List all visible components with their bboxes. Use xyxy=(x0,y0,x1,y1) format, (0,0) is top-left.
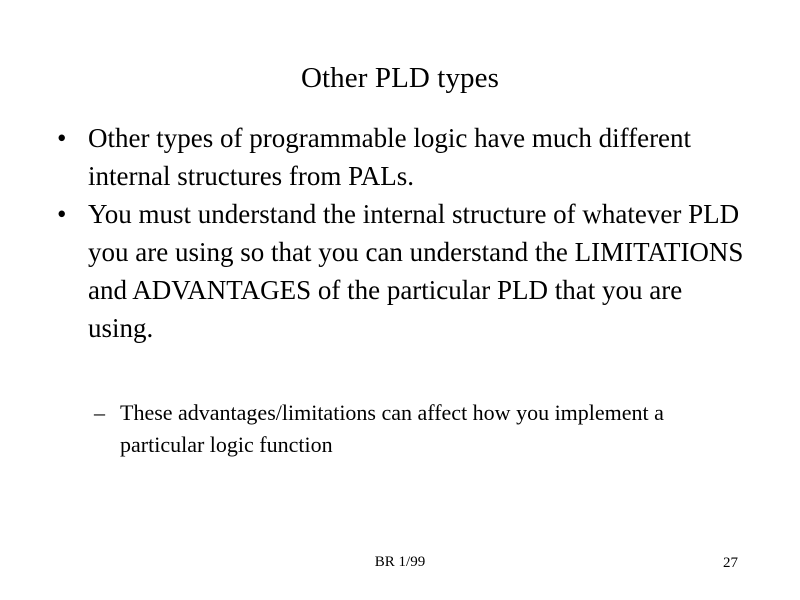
list-item: • Other types of programmable logic have… xyxy=(52,119,752,195)
footer-author-label: BR 1/99 xyxy=(0,553,800,571)
sub-bullet-list: – These advantages/limitations can affec… xyxy=(92,397,672,461)
bullet-dot-icon: • xyxy=(57,195,77,233)
dash-bullet-icon: – xyxy=(94,397,112,429)
bullet-dot-icon: • xyxy=(57,119,77,157)
bullet-text: Other types of programmable logic have m… xyxy=(88,119,752,195)
page-title: Other PLD types xyxy=(0,61,800,95)
list-item: – These advantages/limitations can affec… xyxy=(92,397,672,461)
sub-bullet-text: These advantages/limitations can affect … xyxy=(120,397,672,461)
bullet-text: You must understand the internal structu… xyxy=(88,195,752,347)
list-item: • You must understand the internal struc… xyxy=(52,195,752,347)
slide-canvas: Other PLD types • Other types of program… xyxy=(0,0,800,600)
bullet-list: • Other types of programmable logic have… xyxy=(52,119,752,347)
footer-page-number: 27 xyxy=(723,554,738,572)
